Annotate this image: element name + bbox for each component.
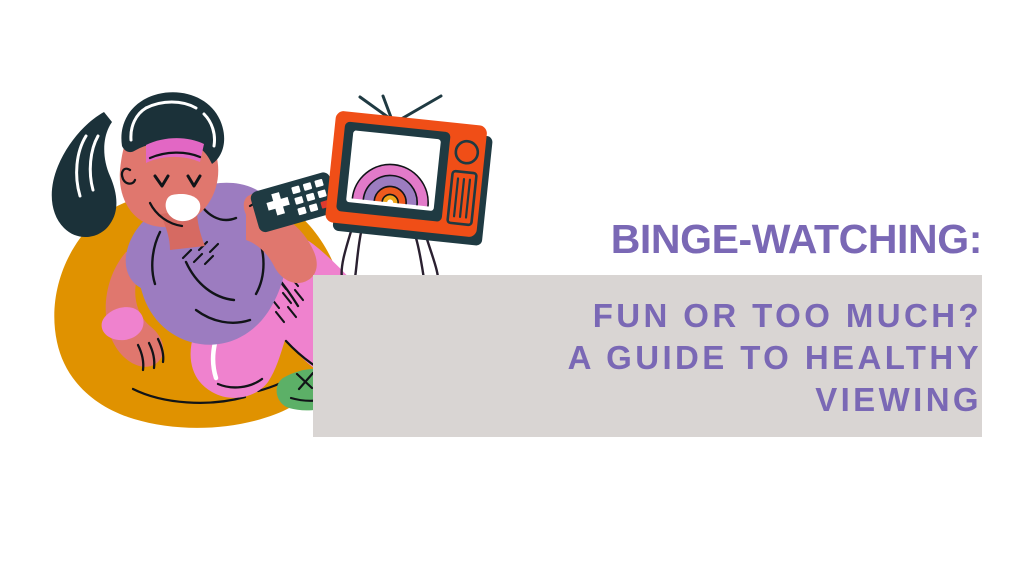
page-subtitle: FUN OR TOO MUCH? A GUIDE TO HEALTHY VIEW… — [360, 295, 982, 421]
poster-canvas: BINGE-WATCHING: FUN OR TOO MUCH? A GUIDE… — [0, 0, 1024, 576]
subtitle-line-2: A GUIDE TO HEALTHY — [360, 337, 982, 379]
subtitle-line-3: VIEWING — [360, 379, 982, 421]
page-title: BINGE-WATCHING: — [420, 216, 982, 262]
subtitle-line-1: FUN OR TOO MUCH? — [360, 295, 982, 337]
retro-television — [325, 96, 493, 294]
